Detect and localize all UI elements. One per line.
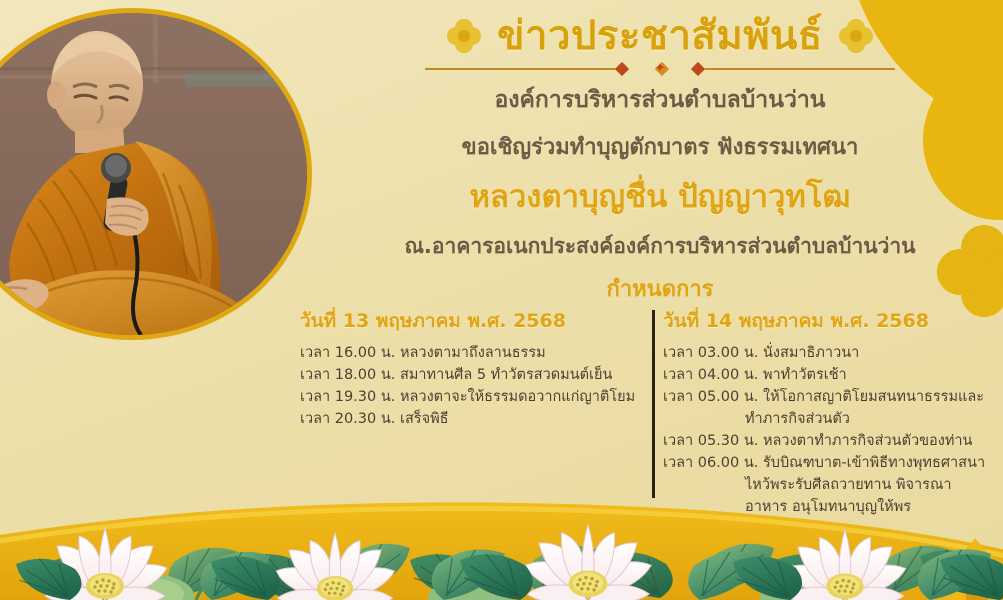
organization-name: องค์การบริหารส่วนตำบลบ้านว่าน <box>330 82 990 118</box>
lotus-band-svg <box>0 480 1003 600</box>
schedule-line: เวลา 04.00 น. พาทำวัตรเช้า <box>663 364 995 386</box>
day2-heading: วันที่ 14 พฤษภาคม พ.ศ. 2568 <box>663 306 995 336</box>
schedule-line: เวลา 20.30 น. เสร็จพิธี <box>300 408 631 430</box>
schedule-line: เวลา 05.30 น. หลวงตาทำภารกิจส่วนตัวของท่… <box>663 430 995 452</box>
schedule-line: เวลา 06.00 น. รับบิณฑบาต-เข้าพิธีทางพุทธ… <box>663 452 995 474</box>
monk-portrait-illustration <box>0 13 307 335</box>
page-title: ข่าวประชาสัมพันธ์ <box>497 14 823 58</box>
agenda-label: กำหนดการ <box>330 271 990 306</box>
clover-ornament-right-icon <box>839 19 873 53</box>
schedule-section: วันที่ 13 พฤษภาคม พ.ศ. 2568 เวลา 16.00 น… <box>300 306 1000 506</box>
schedule-column-day1: วันที่ 13 พฤษภาคม พ.ศ. 2568 เวลา 16.00 น… <box>300 306 645 506</box>
monk-name: หลวงตาบุญชื่น ปัญญาวุทโฒ <box>330 171 990 221</box>
clover-ornament-left-icon <box>447 19 481 53</box>
monk-photo-frame <box>0 8 312 340</box>
invitation-line: ขอเชิญร่วมทำบุญตักบาตร ฟังธรรมเทศนา <box>330 129 990 164</box>
day1-heading: วันที่ 13 พฤษภาคม พ.ศ. 2568 <box>300 306 631 336</box>
poster-header: ข่าวประชาสัมพันธ์ ✦ องค์การบริหารส่วนตำบ… <box>330 14 990 306</box>
schedule-line: เวลา 03.00 น. นั่งสมาธิภาวนา <box>663 342 995 364</box>
monk-photo <box>0 13 307 335</box>
lotus-footer-decoration <box>0 480 1003 600</box>
schedule-line: เวลา 16.00 น. หลวงตามาถึงลานธรรม <box>300 342 631 364</box>
title-divider-ornament: ✦ <box>425 62 895 76</box>
schedule-line: ทำภารกิจส่วนตัว <box>663 408 995 430</box>
poster-canvas: ข่าวประชาสัมพันธ์ ✦ องค์การบริหารส่วนตำบ… <box>0 0 1003 600</box>
schedule-line: เวลา 19.30 น. หลวงตาจะให้ธรรมดอวากแก่ญาต… <box>300 386 631 408</box>
day1-lines: เวลา 16.00 น. หลวงตามาถึงลานธรรม เวลา 18… <box>300 342 631 430</box>
schedule-line: เวลา 05.00 น. ให้โอกาสญาติโยมสนทนาธรรมแล… <box>663 386 995 408</box>
title-row: ข่าวประชาสัมพันธ์ <box>330 14 990 58</box>
schedule-column-day2: วันที่ 14 พฤษภาคม พ.ศ. 2568 เวลา 03.00 น… <box>645 306 995 506</box>
venue-line: ณ.อาคารอเนกประสงค์องค์การบริหารส่วนตำบลบ… <box>330 230 990 263</box>
schedule-line: เวลา 18.00 น. สมาทานศีล 5 ทำวัตรสวดมนต์เ… <box>300 364 631 386</box>
